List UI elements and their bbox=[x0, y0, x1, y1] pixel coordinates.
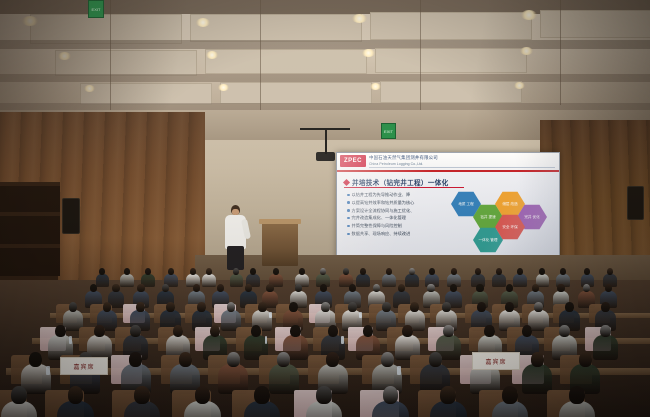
audience-person-head bbox=[386, 268, 392, 275]
audience-person-head bbox=[137, 284, 144, 292]
audience-person-head bbox=[29, 352, 42, 367]
audience-person-head bbox=[277, 352, 290, 367]
water-bottle bbox=[397, 366, 401, 375]
audience-person-head bbox=[190, 268, 196, 275]
bullet-dot-icon bbox=[347, 209, 350, 212]
wall-speaker bbox=[627, 186, 644, 220]
slide-title-row: 并培技术（钻完井工程）一体化 bbox=[344, 177, 449, 187]
audience-person-head bbox=[179, 352, 192, 367]
slide-bullet-list: 以钻井工程为先导推动作业、降 以提高钻井效率和钻井质量为核心 方案设计全流程协同… bbox=[347, 192, 443, 239]
list-item: 以提高钻井效率和钻井质量为核心 bbox=[347, 200, 443, 205]
audience-person bbox=[500, 386, 537, 417]
audience-person-head bbox=[348, 302, 357, 312]
bullet-text: 以钻井工程为先导推动作业、降 bbox=[352, 192, 411, 197]
audience-person-head bbox=[321, 302, 330, 312]
bullet-text: 完井改造集成化、一体化管理 bbox=[352, 215, 406, 220]
list-item: 方案设计全流程协同与施工优化、 bbox=[347, 208, 443, 213]
audience-person bbox=[192, 386, 229, 417]
audience-person-head bbox=[258, 302, 267, 312]
audience-person-head bbox=[227, 352, 240, 367]
audience-person-head bbox=[601, 302, 610, 312]
audience-person-head bbox=[475, 268, 481, 275]
audience-person-head bbox=[522, 325, 533, 337]
audience-person-head bbox=[476, 284, 483, 292]
audience-person-head bbox=[250, 268, 256, 275]
audience-person-head bbox=[560, 268, 566, 275]
audience-person-head bbox=[363, 325, 374, 337]
bullet-text: 井筒完整性保障与风险控制 bbox=[352, 223, 402, 228]
audience-person-head bbox=[569, 386, 585, 404]
audience-person-head bbox=[134, 386, 150, 404]
audience-person-head bbox=[381, 352, 394, 367]
water-bottle bbox=[359, 312, 361, 318]
audience-person-head bbox=[168, 268, 174, 275]
audience-person-head bbox=[266, 284, 273, 292]
audience-person-head bbox=[409, 268, 415, 275]
audience-person-head bbox=[295, 284, 302, 292]
audience-person-head bbox=[130, 325, 141, 337]
audience-person-head bbox=[579, 352, 592, 367]
audience-person-head bbox=[440, 386, 456, 404]
audience-person-head bbox=[502, 386, 518, 404]
audience-person-head bbox=[129, 352, 142, 367]
audience-person-head bbox=[320, 284, 327, 292]
audience-person-head bbox=[382, 302, 391, 312]
bullet-dot-icon bbox=[347, 201, 350, 204]
audience-person-head bbox=[427, 284, 434, 292]
audience-person-head bbox=[316, 386, 332, 404]
audience-person bbox=[65, 386, 102, 417]
audience-person-head bbox=[607, 268, 613, 275]
wall-shelf-recess bbox=[0, 186, 60, 212]
audience-person-head bbox=[69, 302, 78, 312]
audience-person-head bbox=[532, 284, 539, 292]
audience-person-head bbox=[583, 284, 590, 292]
audience-person-head bbox=[68, 386, 84, 404]
audience-person-head bbox=[233, 268, 239, 275]
conference-hall-photo: EXIT EXIT ZPEC 中国石油天然气集团测井有限公司 China Pet… bbox=[0, 0, 650, 417]
audience-person-head bbox=[539, 268, 545, 275]
list-item: 完井改造集成化、一体化管理 bbox=[347, 215, 443, 220]
wall-shelf-recess bbox=[0, 216, 60, 244]
list-item: 数据共享、现场响应、持续改进 bbox=[347, 231, 443, 236]
audience-person-head bbox=[90, 284, 97, 292]
audience-person-head bbox=[534, 302, 543, 312]
audience-person-head bbox=[402, 325, 413, 337]
audience-person-head bbox=[565, 302, 574, 312]
audience-person-head bbox=[531, 352, 544, 367]
audience-person-head bbox=[600, 325, 611, 337]
water-bottle bbox=[46, 366, 50, 375]
audience-person-head bbox=[197, 302, 206, 312]
audience-person-head bbox=[343, 268, 349, 275]
audience-person-head bbox=[505, 302, 514, 312]
audience-person bbox=[380, 386, 417, 417]
bullet-text: 以提高钻井效率和钻井质量为核心 bbox=[352, 200, 415, 205]
bullet-dot-icon bbox=[347, 233, 350, 236]
audience-person-head bbox=[173, 325, 184, 337]
audience-person-head bbox=[477, 302, 486, 312]
diamond-bullet-icon bbox=[343, 178, 350, 185]
audience-person-head bbox=[112, 284, 119, 292]
slide-hexagon-diagram: 地质 工程 钻井 提速 储层 改造 完井 优化 一体化 管理 安全 环保 bbox=[449, 189, 553, 255]
water-bottle bbox=[269, 312, 271, 318]
audience-person-head bbox=[557, 284, 564, 292]
audience-person-head bbox=[496, 268, 502, 275]
audience-person-head bbox=[429, 352, 442, 367]
audience-person-head bbox=[443, 325, 454, 337]
audience-person-head bbox=[320, 268, 326, 275]
slide-header-cn: 中国石油天然气集团测井有限公司 bbox=[369, 155, 438, 161]
water-bottle bbox=[69, 336, 72, 343]
audience-person-head bbox=[360, 268, 366, 275]
audience-person-head bbox=[94, 325, 105, 337]
list-item: 以钻井工程为先导推动作业、降 bbox=[347, 192, 443, 197]
exit-sign-right-label: EXIT bbox=[384, 129, 393, 134]
audience-person-head bbox=[289, 302, 298, 312]
audience-person-head bbox=[429, 268, 435, 275]
bullet-dot-icon bbox=[347, 194, 350, 197]
audience-person bbox=[9, 386, 46, 417]
audience-person-head bbox=[398, 284, 405, 292]
audience-person-head bbox=[103, 302, 112, 312]
audience-person-head bbox=[55, 325, 66, 337]
table-placard: 嘉宾席 bbox=[472, 352, 520, 370]
table-placard: 嘉宾席 bbox=[60, 357, 108, 375]
audience-person-head bbox=[166, 302, 175, 312]
projector-mount bbox=[325, 130, 327, 154]
projection-screen: ZPEC 中国石油天然气集团测井有限公司 China Petroleum Log… bbox=[336, 152, 560, 264]
slide-header-rule bbox=[369, 167, 555, 168]
audience-person-head bbox=[193, 284, 200, 292]
audience-person-head bbox=[254, 386, 270, 404]
wall-shelf-recess bbox=[0, 248, 60, 276]
audience-person-head bbox=[136, 302, 145, 312]
audience-person-head bbox=[145, 268, 151, 275]
slide-header: ZPEC 中国石油天然气集团测井有限公司 China Petroleum Log… bbox=[337, 153, 559, 172]
audience-person-head bbox=[410, 302, 419, 312]
audience-person-head bbox=[11, 386, 27, 404]
water-bottle bbox=[265, 336, 268, 343]
audience-person-head bbox=[383, 386, 399, 404]
audience-person-head bbox=[195, 386, 211, 404]
bullet-dot-icon bbox=[347, 217, 350, 220]
bullet-text: 数据共享、现场响应、持续改进 bbox=[352, 231, 411, 236]
exit-sign-icon: EXIT bbox=[88, 0, 104, 18]
exit-sign-left-label: EXIT bbox=[92, 7, 101, 12]
audience-person bbox=[567, 386, 604, 417]
ceiling-truss bbox=[300, 128, 350, 130]
audience-person-head bbox=[290, 325, 301, 337]
audience-person-head bbox=[206, 268, 212, 275]
audience-person-head bbox=[442, 302, 451, 312]
slide-header-en: China Petroleum Logging Co.,Ltd. bbox=[369, 162, 423, 166]
wall-speaker bbox=[62, 198, 80, 234]
audience-person-head bbox=[349, 284, 356, 292]
audience-person-head bbox=[124, 268, 130, 275]
audience-person-head bbox=[450, 284, 457, 292]
audience-person-head bbox=[273, 268, 279, 275]
audience-person bbox=[132, 386, 169, 417]
audience-person bbox=[252, 386, 289, 417]
podium bbox=[262, 222, 298, 266]
company-logo-text: ZPEC bbox=[341, 156, 365, 166]
audience-person-head bbox=[517, 268, 523, 275]
list-item: 井筒完整性保障与风险控制 bbox=[347, 223, 443, 228]
audience-person bbox=[438, 386, 475, 417]
audience-person-head bbox=[299, 268, 305, 275]
audience-person-head bbox=[373, 284, 380, 292]
audience-person-head bbox=[484, 325, 495, 337]
presenter-legs bbox=[227, 246, 244, 270]
bullet-text: 方案设计全流程协同与施工优化、 bbox=[352, 208, 415, 213]
water-bottle bbox=[341, 336, 344, 343]
podium-top bbox=[259, 219, 301, 224]
bullet-dot-icon bbox=[347, 225, 350, 228]
exit-sign-icon: EXIT bbox=[381, 123, 396, 139]
audience-person-head bbox=[506, 284, 513, 292]
audience-person-head bbox=[326, 352, 339, 367]
slide-title-underline bbox=[344, 187, 464, 188]
audience-person-head bbox=[210, 325, 221, 337]
slide-title: 并培技术（钻完井工程）一体化 bbox=[352, 177, 449, 187]
audience-person-head bbox=[559, 325, 570, 337]
audience-person-head bbox=[451, 268, 457, 275]
audience-person bbox=[314, 386, 351, 417]
